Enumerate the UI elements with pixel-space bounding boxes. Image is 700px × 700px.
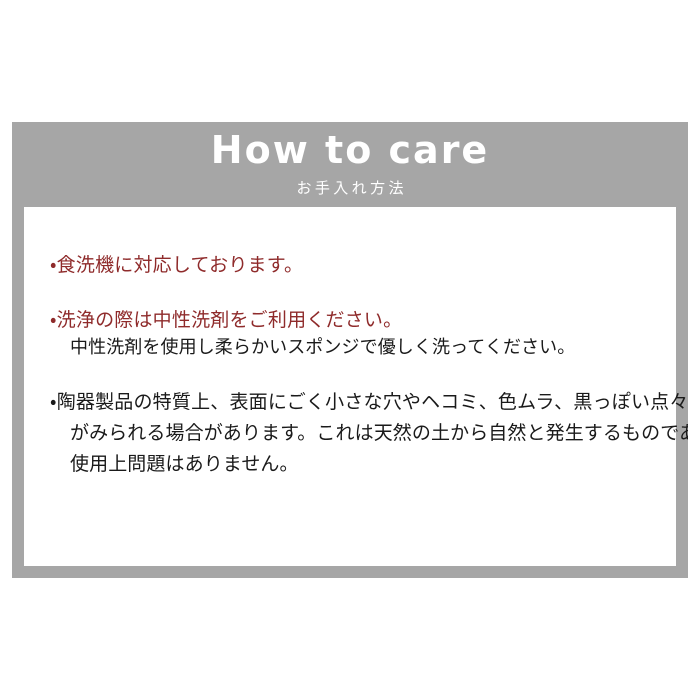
care-notes-list: ・食洗機に対応しております。 ・洗浄の際は中性洗剤をご利用ください。 中性洗剤を… xyxy=(50,251,662,480)
page-title: How to care xyxy=(12,131,688,171)
note-lead-text: 陶器製品の特質上、表面にごく小さな穴やヘコミ、色ムラ、黒っぽい点々など xyxy=(57,391,688,413)
note-lead-text: 洗浄の際は中性洗剤をご利用ください。 xyxy=(57,309,403,331)
note-continuation-line: がみられる場合があります。これは天然の土から自然と発生するものであり、 xyxy=(50,418,662,449)
bullet-marker: ・ xyxy=(50,391,57,413)
card-body-panel: ・食洗機に対応しております。 ・洗浄の際は中性洗剤をご利用ください。 中性洗剤を… xyxy=(24,207,676,566)
note-lead-text: 食洗機に対応しております。 xyxy=(57,254,304,276)
card-header-band: How to care お手入れ方法 xyxy=(12,122,688,207)
list-item: ・陶器製品の特質上、表面にごく小さな穴やヘコミ、色ムラ、黒っぽい点々など がみら… xyxy=(50,387,662,479)
note-sub-line: 中性洗剤を使用し柔らかいスポンジで優しく洗ってください。 xyxy=(50,334,662,361)
note-lead-line: ・食洗機に対応しております。 xyxy=(50,251,662,280)
note-lead-line: ・洗浄の際は中性洗剤をご利用ください。 xyxy=(50,306,662,335)
note-lead-line: ・陶器製品の特質上、表面にごく小さな穴やヘコミ、色ムラ、黒っぽい点々など xyxy=(50,387,662,418)
bullet-marker: ・ xyxy=(50,254,57,276)
page-subtitle: お手入れ方法 xyxy=(12,179,688,197)
note-continuation-line: 使用上問題はありません。 xyxy=(50,449,662,480)
how-to-care-card: How to care お手入れ方法 ・食洗機に対応しております。 ・洗浄の際は… xyxy=(12,122,688,578)
bullet-marker: ・ xyxy=(50,309,57,331)
page-canvas: How to care お手入れ方法 ・食洗機に対応しております。 ・洗浄の際は… xyxy=(0,0,700,700)
list-item: ・食洗機に対応しております。 xyxy=(50,251,662,280)
list-item: ・洗浄の際は中性洗剤をご利用ください。 中性洗剤を使用し柔らかいスポンジで優しく… xyxy=(50,306,662,362)
